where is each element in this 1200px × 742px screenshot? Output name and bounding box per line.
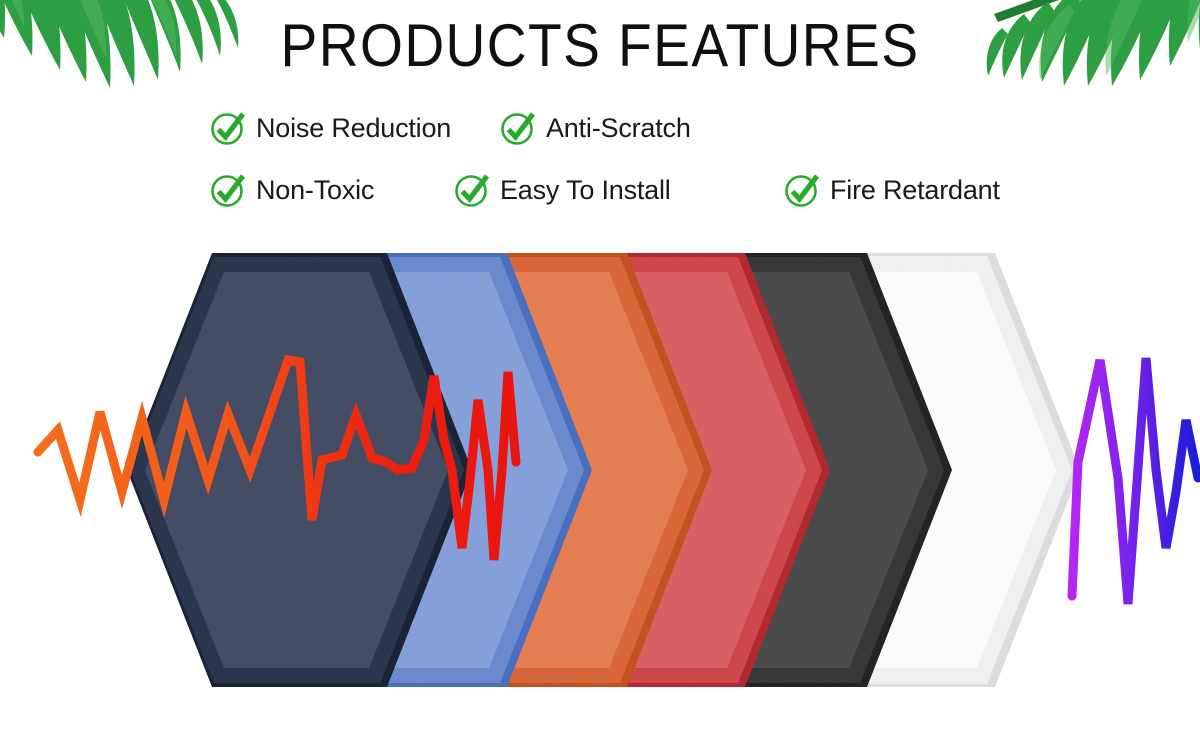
- feature-item-fire-retardant[interactable]: Fire Retardant: [782, 168, 1000, 212]
- check-circle-icon: [452, 170, 492, 210]
- feature-label: Non-Toxic: [256, 175, 374, 206]
- feature-label: Anti-Scratch: [546, 113, 691, 144]
- feature-label: Fire Retardant: [830, 175, 1000, 206]
- slide-canvas: PRODUCTS FEATURES Noise Reduction Anti-S…: [0, 0, 1200, 742]
- feature-item-non-toxic[interactable]: Non-Toxic: [208, 168, 374, 212]
- check-circle-icon: [782, 170, 822, 210]
- feature-label: Easy To Install: [500, 175, 671, 206]
- check-circle-icon: [208, 170, 248, 210]
- page-title: PRODUCTS FEATURES: [48, 14, 1152, 78]
- check-circle-icon: [208, 108, 248, 148]
- feature-item-anti-scratch[interactable]: Anti-Scratch: [498, 106, 691, 150]
- feature-item-noise-reduction[interactable]: Noise Reduction: [208, 106, 451, 150]
- feature-label: Noise Reduction: [256, 113, 451, 144]
- feature-list: Noise Reduction Anti-Scratch Non-Toxic: [0, 106, 1200, 226]
- check-circle-icon: [498, 108, 538, 148]
- feature-item-easy-to-install[interactable]: Easy To Install: [452, 168, 671, 212]
